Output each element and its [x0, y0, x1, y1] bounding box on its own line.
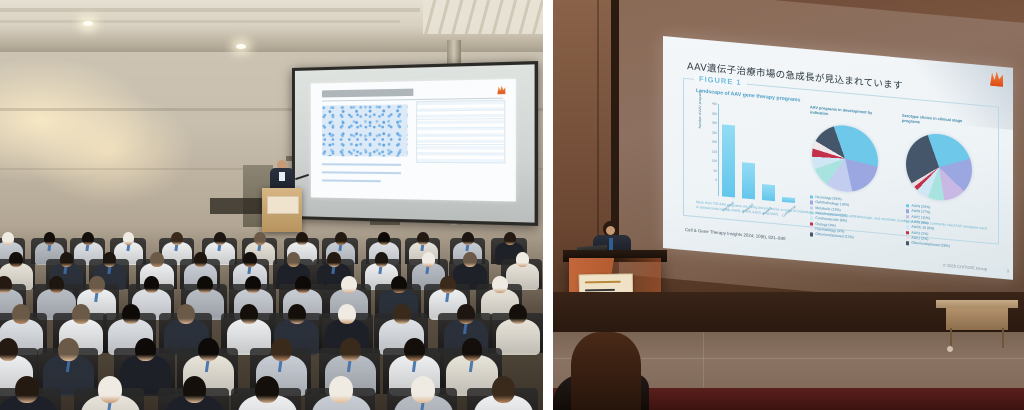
attendee-head [329, 376, 353, 403]
presenter-tie [609, 238, 613, 250]
bar [742, 162, 755, 199]
attendee-head [463, 252, 477, 267]
attendee-head [288, 304, 306, 324]
photo-collage: AAV遺伝子治療市場の急成長が見込まれています FIGURE 1 Landsca… [0, 0, 1024, 410]
attendee-head [340, 338, 361, 361]
attendee-head [194, 252, 208, 267]
slide-bullet [322, 179, 381, 182]
legend-swatch [906, 236, 909, 240]
table-skirt [946, 308, 1008, 330]
slide-source: Cell & Gene Therapy Insights 2024; 10(6)… [685, 227, 785, 241]
attendee-head [341, 276, 357, 293]
bar-chart-y-tick: 300 [706, 120, 717, 125]
pie-1-title: AAV programs in development by indicatio… [810, 104, 884, 121]
attendee-head [296, 232, 308, 245]
legend-swatch [810, 233, 813, 237]
attendee-head [9, 252, 23, 267]
projected-slide [310, 79, 516, 202]
attendee-head [254, 232, 266, 245]
attendee-head [243, 252, 257, 267]
attendee-head [492, 276, 508, 293]
attendee-head [457, 304, 475, 324]
attendee-head [240, 304, 258, 324]
foreground-attendee-head [571, 332, 641, 410]
legend-swatch [810, 201, 813, 205]
bar-chart-y-tick: 0 [706, 177, 717, 182]
table-leg [1002, 328, 1004, 348]
slide-bullet [322, 171, 401, 174]
legend-swatch [906, 209, 909, 213]
attendee-head [335, 232, 347, 245]
bar-chart-y-tick: 350 [706, 110, 717, 115]
attendee-head [287, 252, 301, 267]
attendee-head [338, 304, 356, 324]
left-photo-conference-hall [0, 0, 543, 410]
attendee-head [89, 276, 105, 293]
chitose-flame-logo-icon [497, 85, 505, 94]
attendee-head [411, 376, 435, 403]
bar-chart-y-axis [718, 104, 719, 196]
attendee-head [60, 252, 74, 267]
table-caster-wheel [947, 346, 953, 352]
attendee-head [509, 304, 527, 324]
attendee-head [245, 276, 261, 293]
attendee-head [15, 376, 39, 403]
downlight [83, 21, 93, 26]
bar [762, 184, 775, 201]
floor-seam [703, 332, 704, 392]
attendee-head [58, 338, 79, 361]
legend-swatch [810, 222, 813, 226]
photo-divider [543, 0, 553, 410]
legend-swatch [906, 231, 909, 235]
presenter-face [606, 226, 615, 235]
bar-chart-y-tick: 400 [706, 101, 717, 106]
attendee-head [327, 252, 341, 267]
pie-chart-serotypes [906, 131, 972, 203]
attendee-head [198, 338, 219, 361]
attendee-head [0, 338, 18, 361]
attendee-head [462, 232, 474, 245]
downlight [236, 44, 246, 49]
slide-footer: © 2025 CHITOSE Group [943, 262, 987, 271]
bar-chart-y-tick: 250 [706, 129, 717, 134]
side-table [936, 300, 1018, 340]
attendee-head [391, 276, 407, 293]
slide-page-number: 3 [1007, 268, 1009, 273]
projected-slide: AAV遺伝子治療市場の急成長が見込まれています FIGURE 1 Landsca… [663, 36, 1013, 280]
attendee-head [404, 338, 425, 361]
figure-box: FIGURE 1 Landscape of AAV gene therapy p… [683, 78, 999, 245]
bar-chart-y-label: Number of AAV programs [698, 90, 702, 129]
slide-bullet [322, 163, 401, 166]
attendee-head [393, 304, 411, 324]
table-leg [950, 328, 952, 348]
legend-swatch [810, 195, 813, 199]
attendee-head [462, 338, 483, 361]
attendee-head [214, 232, 226, 245]
attendee-head [295, 276, 311, 293]
bar [722, 124, 735, 197]
bar [782, 197, 795, 203]
presenter-shirt [279, 172, 285, 181]
bar-chart-y-tick: 150 [706, 148, 717, 153]
slide-data-table [416, 100, 506, 163]
attendee-head [504, 232, 516, 245]
legend-swatch [906, 241, 909, 245]
attendee-head [422, 252, 436, 267]
attendee-head [150, 252, 164, 267]
bar-chart-y-ticks: 400350300250200150100500 [706, 103, 802, 112]
attendee-head [135, 338, 156, 361]
bar-chart-x-labels: PreclinicalPhase 1/2Phase 3Commercial [706, 103, 802, 112]
attendee-head [255, 376, 279, 403]
attendee-head [516, 252, 530, 267]
right-photo-screen-closeup: AAV遺伝子治療市場の急成長が見込まれています FIGURE 1 Landsca… [553, 0, 1024, 410]
attendee-head [12, 304, 30, 324]
attendee-head [122, 304, 140, 324]
attendee-head [375, 252, 389, 267]
attendee-head [197, 276, 213, 293]
attendee-head [440, 276, 456, 293]
podium [262, 188, 302, 232]
projection-screen [292, 61, 538, 226]
attendee-head [98, 376, 122, 403]
podium-sign [267, 196, 299, 214]
attendee-head [171, 232, 183, 245]
pie-2-title: Serotype choice in clinical stage progra… [902, 113, 980, 131]
attendee-head [103, 252, 117, 267]
bar-chart-y-tick: 200 [706, 139, 717, 144]
slide-title-bar [322, 87, 473, 97]
ceiling-slot [0, 20, 400, 23]
attendee-head [271, 338, 292, 361]
attendee-head [183, 376, 207, 403]
bar-chart-y-tick: 50 [706, 167, 717, 172]
slide-image-panel [322, 104, 408, 157]
attendee-head [177, 304, 195, 324]
attendee-head [492, 376, 516, 403]
legend-swatch [906, 204, 909, 208]
pie-chart-indications [812, 123, 878, 195]
attendee-head [378, 232, 390, 245]
bar-chart-y-tick: 100 [706, 158, 717, 163]
ceiling-slot [0, 8, 420, 12]
ceiling-soffit [0, 34, 543, 52]
table-top [936, 300, 1018, 308]
bar-chart-series [706, 103, 802, 112]
legend-swatch [810, 227, 813, 231]
attendee-head [72, 304, 90, 324]
